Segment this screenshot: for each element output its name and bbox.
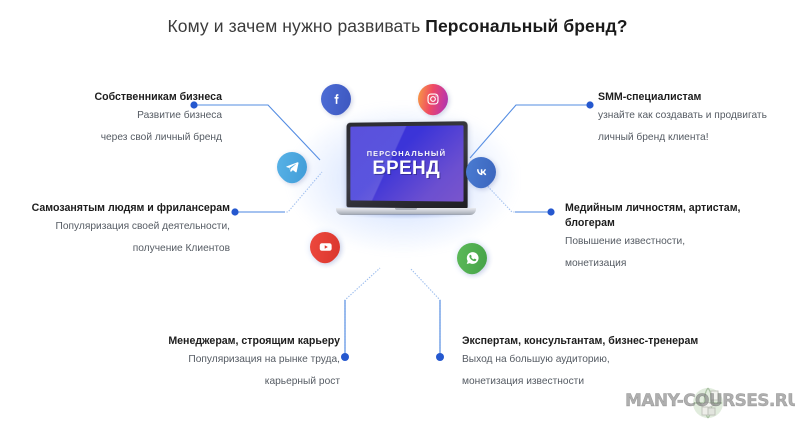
facebook-glyph xyxy=(330,93,343,106)
connector-dot xyxy=(231,208,238,215)
whatsapp-glyph xyxy=(465,251,480,266)
connector-dot xyxy=(547,208,554,215)
laptop-shadow xyxy=(340,214,472,219)
connector-dot xyxy=(586,101,593,108)
instagram-glyph xyxy=(426,92,440,106)
block-line-2: получение Клиентов xyxy=(0,238,230,260)
block-line-1: Популяризация на рынке труда, xyxy=(110,349,340,371)
block-line-1: узнайте как создавать и продвигать xyxy=(598,105,795,127)
vk-glyph xyxy=(474,165,489,180)
laptop-illustration: ПЕРСОНАЛЬНЫЙ БРЕНД xyxy=(336,122,476,232)
block-heading: Самозанятым людям и фрилансерам xyxy=(0,201,230,216)
block-line-1: Популяризация своей деятельности, xyxy=(0,216,230,238)
block-heading: Менеджерам, строящим карьеру xyxy=(110,334,340,349)
watermark-text: MANY-COURSES.RU xyxy=(625,391,790,411)
block-line-1: Выход на большую аудиторию, xyxy=(462,349,762,371)
block-line-2: через свой личный бренд xyxy=(10,127,222,149)
block-business-owners: Собственникам бизнеса Развитие бизнеса ч… xyxy=(10,90,222,149)
connector-dot xyxy=(341,353,349,361)
block-line-1: Развитие бизнеса xyxy=(10,105,222,127)
block-line-2: карьерный рост xyxy=(110,371,340,393)
block-managers: Менеджерам, строящим карьеру Популяризац… xyxy=(110,334,340,393)
page-title-prefix: Кому и зачем нужно развивать xyxy=(167,16,425,36)
infographic-canvas: Кому и зачем нужно развивать Персональны… xyxy=(0,0,795,426)
block-heading: Собственникам бизнеса xyxy=(10,90,222,105)
laptop-lid: ПЕРСОНАЛЬНЫЙ БРЕНД xyxy=(347,121,468,209)
telegram-glyph xyxy=(285,160,299,174)
block-media-personalities: Медийным личностям, артистам, блогерам П… xyxy=(565,201,790,275)
watermark: MANY-COURSES.RU xyxy=(625,383,790,423)
block-heading: SMM-специалистам xyxy=(598,90,795,105)
block-heading: Экспертам, консультантам, бизнес-тренера… xyxy=(462,334,762,349)
block-freelancers: Самозанятым людям и фрилансерам Популяри… xyxy=(0,201,230,260)
block-smm-specialists: SMM-специалистам узнайте как создавать и… xyxy=(598,90,795,149)
page-title-emphasis: Персональный бренд? xyxy=(425,16,627,36)
laptop-screen: ПЕРСОНАЛЬНЫЙ БРЕНД xyxy=(350,125,463,201)
screen-line-1: ПЕРСОНАЛЬНЫЙ xyxy=(367,148,446,157)
youtube-glyph xyxy=(318,240,333,255)
connector-dot xyxy=(436,353,444,361)
block-line-1: Повышение известности, xyxy=(565,231,790,253)
block-line-2: монетизация xyxy=(565,253,790,275)
block-line-2: личный бренд клиента! xyxy=(598,127,795,149)
block-heading: Медийным личностям, артистам, блогерам xyxy=(565,201,790,231)
screen-line-2: БРЕНД xyxy=(372,158,440,178)
page-title: Кому и зачем нужно развивать Персональны… xyxy=(0,16,795,37)
